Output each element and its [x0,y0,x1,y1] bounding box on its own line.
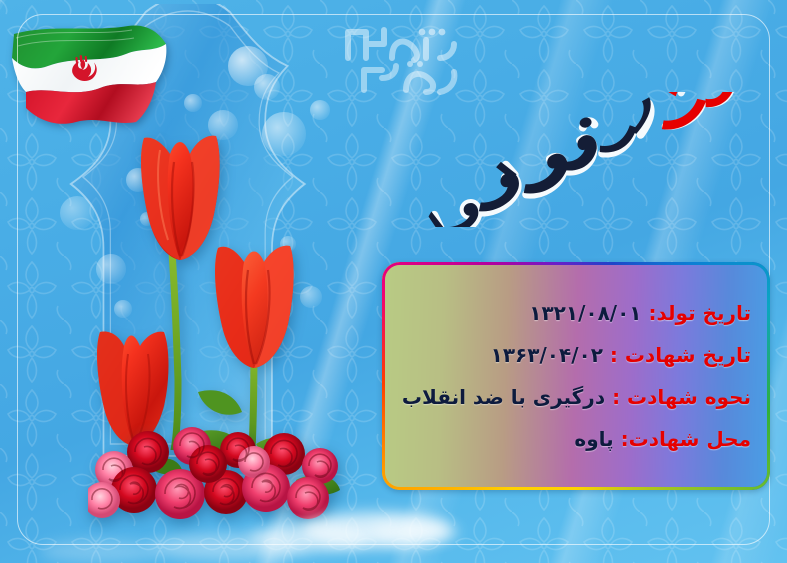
bokeh-circle [300,286,322,308]
martyr-info-box: تاریخ تولد: ۱۳۲۱/۰۸/۰۱ تاریخ شهادت : ۱۳۶… [382,262,770,490]
rose-bouquet-icon [88,408,348,536]
bokeh-circle [254,74,280,100]
islamic-arch-shape [48,4,378,474]
bokeh-circle [280,236,296,252]
bokeh-circle [140,212,154,226]
info-label: محل شهادت: [621,427,751,451]
bokeh-circle [126,168,150,192]
info-label: نحوه شهادت : [612,385,751,409]
bokeh-circle [114,300,132,318]
bokeh-circle [96,254,126,284]
cloud-shape [250,524,370,552]
info-value: پاوه [574,427,613,451]
info-label: تاریخ تولد: [648,301,751,325]
info-label: تاریخ شهادت : [610,343,751,367]
bokeh-circle [256,316,282,342]
page-title [395,92,775,227]
info-row-martyrdom-place: محل شهادت: پاوه [401,429,751,449]
cloud-shape [368,520,458,544]
info-box-content: تاریخ تولد: ۱۳۲۱/۰۸/۰۱ تاریخ شهادت : ۱۳۶… [385,265,767,487]
bokeh-circle [262,112,306,156]
bokeh-circle [208,110,238,140]
iran-flag-icon [8,22,168,137]
cloud-shape [300,512,450,548]
info-value: ۱۳۲۱/۰۸/۰۱ [529,301,641,325]
info-value: درگیری با ضد انقلاب [402,385,605,409]
info-row-birth-date: تاریخ تولد: ۱۳۲۱/۰۸/۰۱ [401,303,751,323]
bokeh-circle [184,94,202,112]
bokeh-circle [310,100,330,120]
cloud-shape [150,534,310,560]
cloud-shape [40,540,160,562]
info-row-martyrdom-manner: نحوه شهادت : درگیری با ضد انقلاب [401,387,751,407]
martyr-poster: تاریخ تولد: ۱۳۲۱/۰۸/۰۱ تاریخ شهادت : ۱۳۶… [0,0,787,563]
info-value: ۱۳۶۳/۰۴/۰۲ [491,343,603,367]
bokeh-circle [228,46,268,86]
navid-shahed-logo [322,14,490,102]
bokeh-circle [60,196,94,230]
info-row-martyrdom-date: تاریخ شهادت : ۱۳۶۳/۰۴/۰۲ [401,345,751,365]
red-tulips-icon [78,120,368,450]
